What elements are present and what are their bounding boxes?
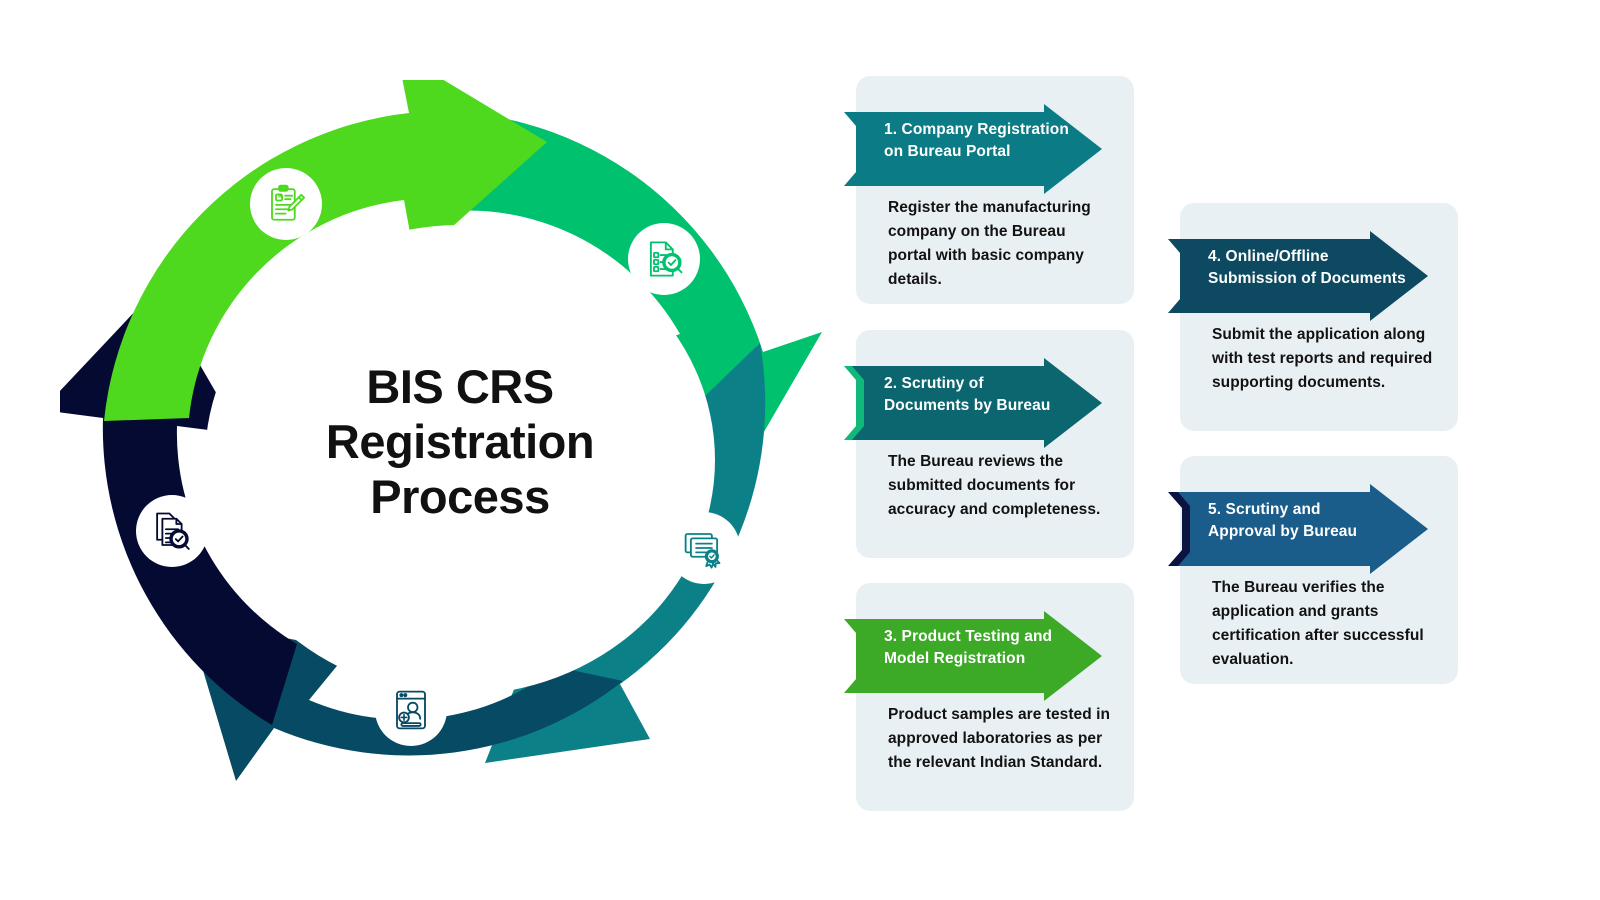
step-1-body: Register the manufacturing company on th… [888, 196, 1112, 292]
step-3-body: Product samples are tested in approved l… [888, 703, 1112, 775]
online-submission-user-icon [375, 674, 447, 746]
step-card-2[interactable]: 2. Scrutiny of Documents by Bureau The B… [856, 330, 1134, 558]
infographic-root: BIS CRS Registration Process [0, 0, 1600, 900]
step-5-arrow-banner [1168, 484, 1430, 574]
diagram-title-line-2: Registration [240, 415, 680, 470]
diagram-title-line-3: Process [240, 470, 680, 525]
step-2-arrow-banner [844, 358, 1104, 448]
cycle-diagram: BIS CRS Registration Process [60, 80, 860, 840]
step-5-body: The Bureau verifies the application and … [1212, 576, 1436, 672]
step-1-arrow-banner [844, 104, 1104, 194]
step-card-4[interactable]: 4. Online/Offline Submission of Document… [1180, 203, 1458, 431]
documents-magnifier-check-icon [136, 495, 208, 567]
step-4-arrow-banner [1168, 231, 1430, 321]
step-card-5[interactable]: 5. Scrutiny and Approval by Bureau The B… [1180, 456, 1458, 684]
step-card-1[interactable]: 1. Company Registration on Bureau Portal… [856, 76, 1134, 304]
step-4-body: Submit the application along with test r… [1212, 323, 1436, 395]
step-2-body: The Bureau reviews the submitted documen… [888, 450, 1112, 522]
diagram-title: BIS CRS Registration Process [240, 360, 680, 525]
diagram-title-line-1: BIS CRS [240, 360, 680, 415]
clipboard-pen-icon [250, 168, 322, 240]
step-3-arrow-banner [844, 611, 1104, 701]
step-card-3[interactable]: 3. Product Testing and Model Registratio… [856, 583, 1134, 811]
certificate-ribbon-icon [668, 512, 740, 584]
document-check-magnifier-icon [628, 223, 700, 295]
